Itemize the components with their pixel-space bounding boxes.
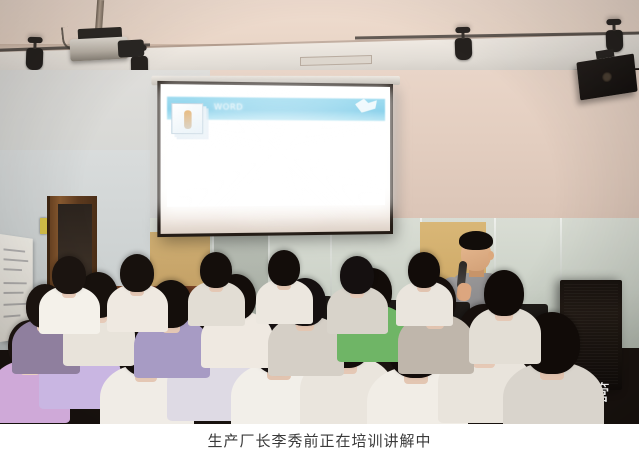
slide-header-title: WORD: [214, 102, 243, 112]
projector-lens: [118, 39, 145, 57]
door-sign-plate: [40, 218, 47, 234]
audience-member-head: [268, 250, 300, 286]
caption-text: 生产厂长李秀前正在培训讲解中: [207, 430, 431, 451]
projected-slide: WORD: [167, 92, 385, 206]
projection-screen: WORD: [157, 81, 393, 237]
screenshot-root: WORD: [0, 0, 639, 456]
slide-document-thumbnail: [171, 103, 203, 134]
spot-light-1: [26, 48, 44, 71]
seated-audience: [0, 262, 639, 424]
training-photo: WORD: [0, 0, 639, 424]
caption-bar: 生产厂长李秀前正在培训讲解中: [0, 424, 639, 456]
spot-light-3: [455, 38, 473, 61]
screen-surface: WORD: [161, 84, 390, 234]
presenter-hair: [459, 231, 493, 250]
audience-member-head: [340, 256, 374, 294]
audience-member-head: [120, 254, 154, 292]
speaker-cone-icon: [602, 71, 613, 83]
audience-member-head: [484, 270, 524, 316]
audience-member-head: [200, 252, 232, 288]
audience-member-head: [408, 252, 440, 288]
audience-member-head: [52, 256, 86, 294]
presenter-ear: [488, 251, 494, 260]
